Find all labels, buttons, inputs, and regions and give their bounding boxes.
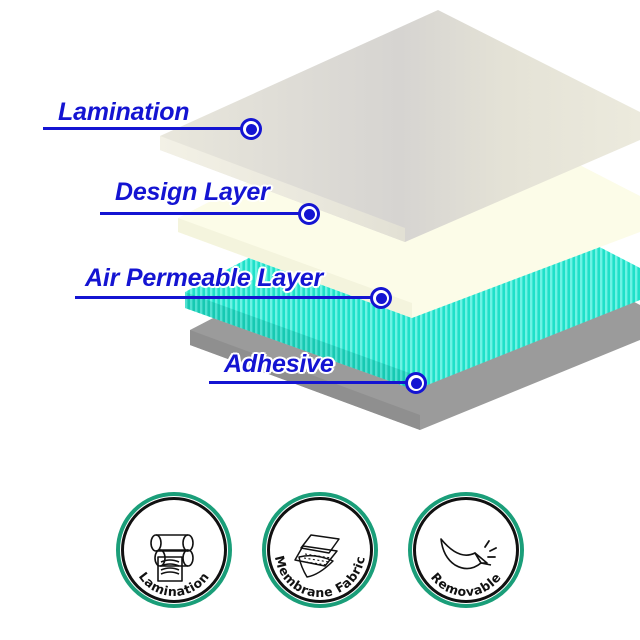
badge-lamination[interactable]: Lamination	[116, 492, 232, 608]
badge-removable[interactable]: Removable	[408, 492, 524, 608]
badge-arc-label: Removable	[408, 492, 524, 608]
badge-arc-label: Lamination	[116, 492, 232, 608]
callout-line-adhesive	[209, 381, 413, 384]
badge-label-text: Removable	[428, 570, 504, 600]
feature-badge-row: Lamination	[0, 492, 640, 620]
callout-dot-adhesive[interactable]	[405, 372, 427, 394]
badge-label-text: Lamination	[136, 569, 212, 599]
callout-label-adhesive: Adhesive	[224, 350, 334, 379]
badge-arc-label: Membrane Fabric	[262, 492, 378, 608]
diagram-canvas: Lamination Design Layer Air Permeable La…	[0, 0, 640, 640]
badge-membrane-fabric[interactable]: Membrane Fabric	[262, 492, 378, 608]
badge-label-text: Membrane Fabric	[272, 554, 368, 600]
